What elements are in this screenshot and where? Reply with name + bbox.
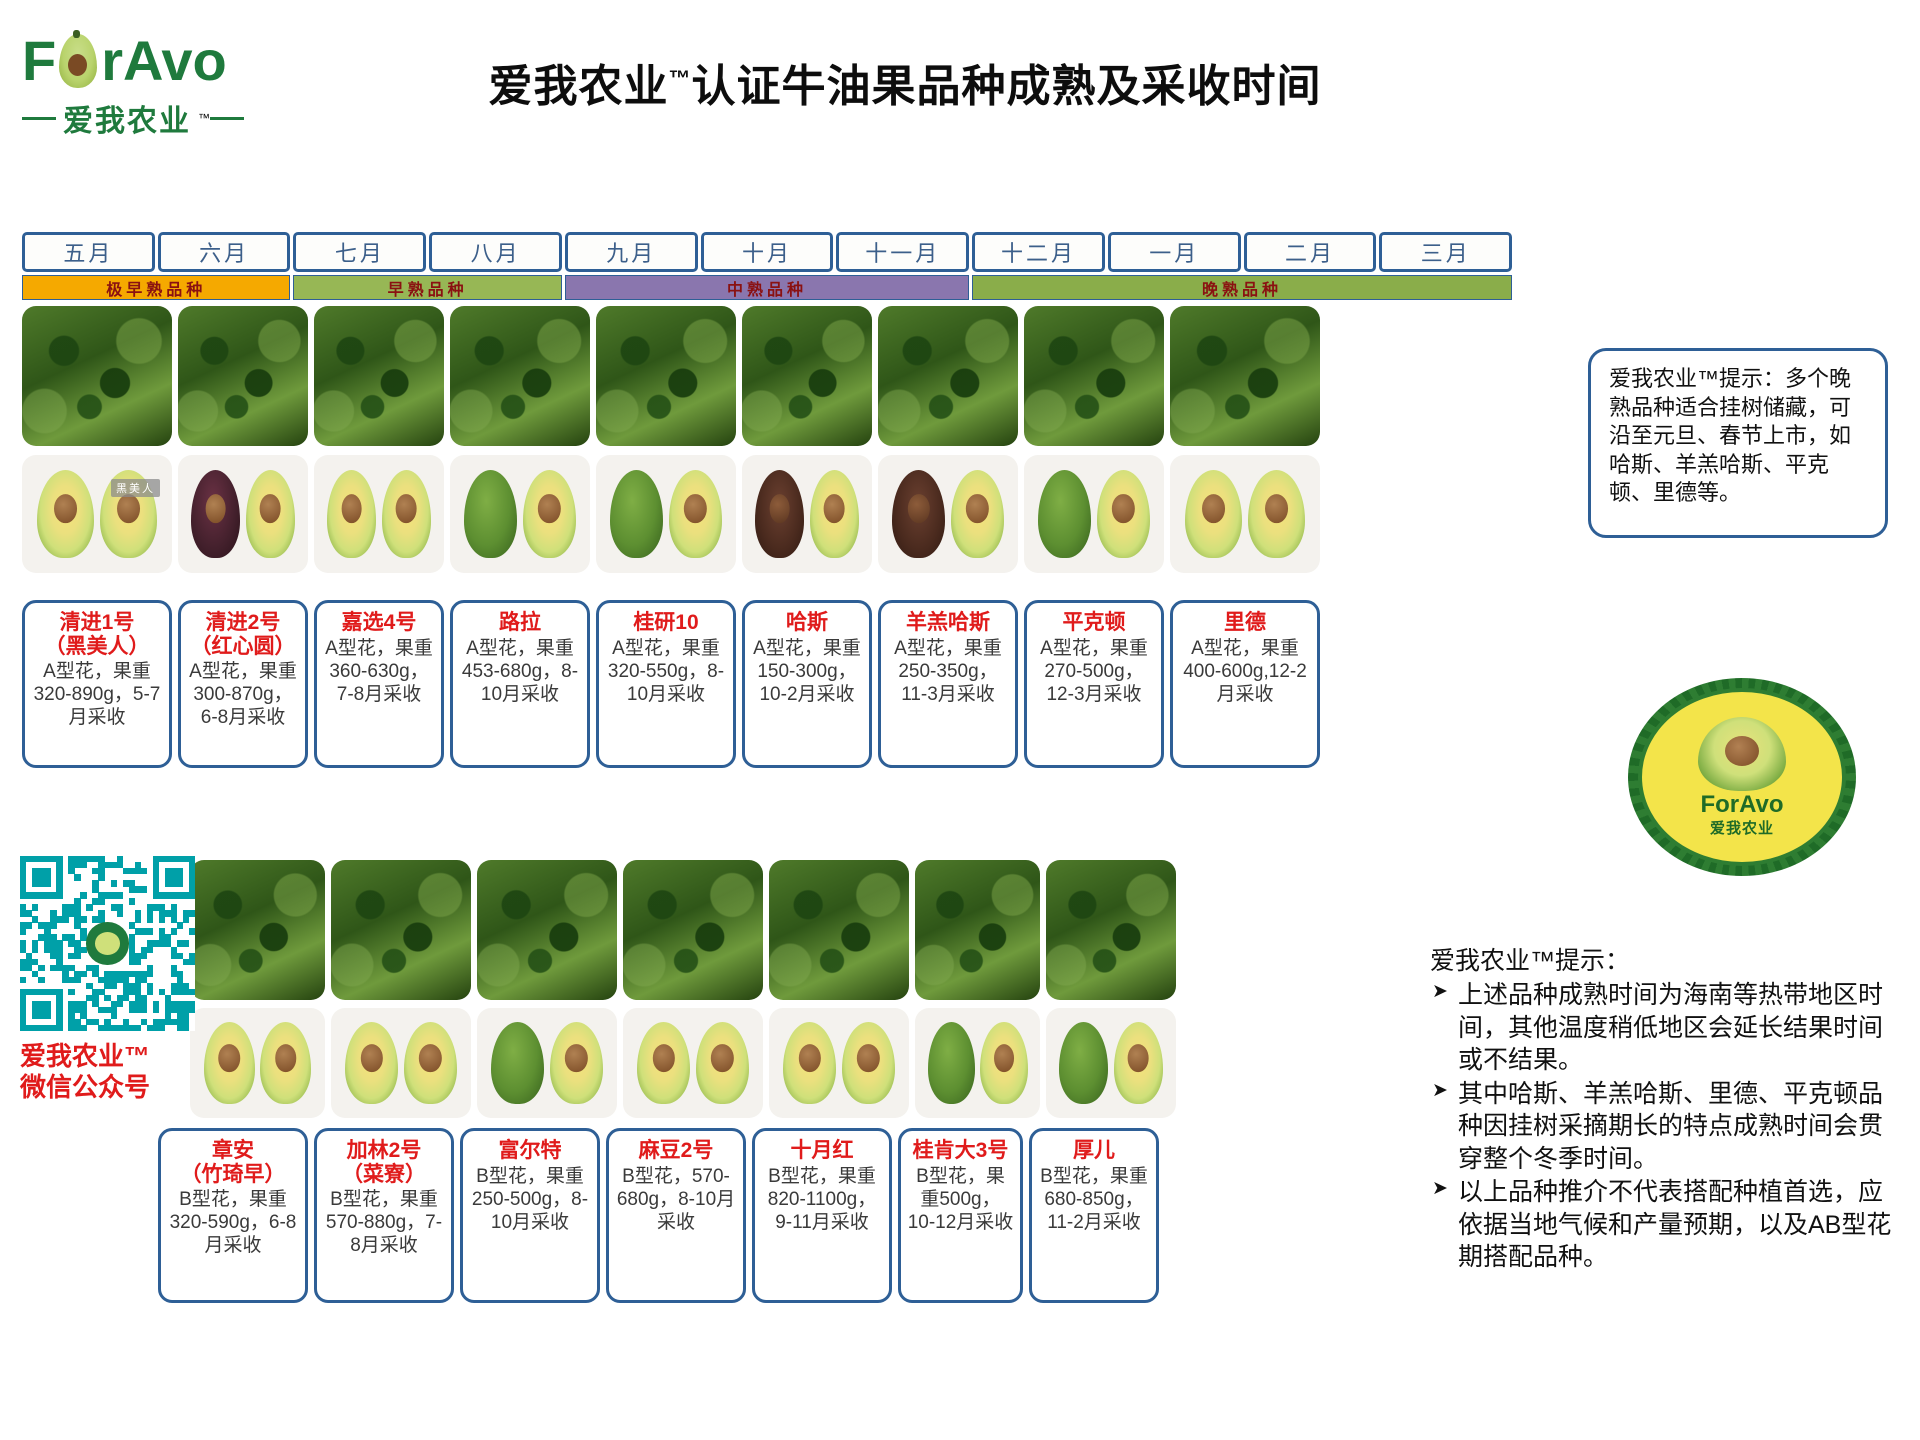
avocado-fruit-photo — [623, 1008, 763, 1118]
avocado-tree-photo — [915, 860, 1040, 1000]
row2-tree-photo-strip — [190, 860, 1176, 1000]
variety-name: 清进1号 — [31, 611, 163, 635]
month-cell-2: 六月 — [158, 232, 291, 272]
variety-name: 富尔特 — [469, 1139, 591, 1163]
foravo-logo: F rAvo 爱我农业 ™ — [22, 30, 292, 140]
avocado-icon — [1698, 717, 1786, 791]
variety-description: B型花，果重680-850g，11-2月采收 — [1038, 1165, 1150, 1235]
qr-code-icon[interactable] — [20, 856, 195, 1031]
avocado-fruit-photo — [190, 1008, 325, 1118]
timeline: 五月六月七月八月九月十月十一月十二月一月二月三月 极早熟品种早熟品种中熟品种晚熟… — [22, 232, 1512, 300]
variety-alias: （红心圆） — [187, 635, 299, 659]
tip-box-text: 爱我农业™提示：多个晚熟品种适合挂树储藏，可沿至元旦、春节上市，如哈斯、羊羔哈斯… — [1609, 365, 1871, 508]
variety-name: 麻豆2号 — [615, 1139, 737, 1163]
page-title-brand: 爱我农业 — [489, 62, 669, 111]
variety-card[interactable]: 麻豆2号B型花，570-680g，8-10月采收 — [606, 1128, 746, 1303]
variety-name: 嘉选4号 — [323, 611, 435, 635]
foravo-round-badge: ForAvo 爱我农业 — [1628, 678, 1856, 876]
avocado-tree-photo — [314, 306, 444, 446]
variety-description: B型花，果重570-880g，7-8月采收 — [323, 1188, 445, 1258]
note-item-1: 上述品种成熟时间为海南等热带地区时间，其他温度稍低地区会延长结果时间或不结果。 — [1430, 979, 1900, 1077]
variety-alias: （黑美人） — [31, 635, 163, 659]
avocado-tree-photo — [878, 306, 1018, 446]
bottom-notes: 爱我农业™提示： 上述品种成熟时间为海南等热带地区时间，其他温度稍低地区会延长结… — [1430, 945, 1900, 1275]
badge-inner: ForAvo 爱我农业 — [1638, 688, 1846, 866]
variety-card[interactable]: 嘉选4号A型花，果重360-630g，7-8月采收 — [314, 600, 444, 768]
month-cell-11: 三月 — [1379, 232, 1512, 272]
variety-card[interactable]: 清进2号（红心圆）A型花，果重300-870g，6-8月采收 — [178, 600, 308, 768]
variety-description: A型花，果重360-630g，7-8月采收 — [323, 637, 435, 707]
season-band-row: 极早熟品种早熟品种中熟品种晚熟品种 — [22, 275, 1512, 300]
variety-description: A型花，果重270-500g，12-3月采收 — [1033, 637, 1155, 707]
variety-card[interactable]: 路拉A型花，果重453-680g，8-10月采收 — [450, 600, 590, 768]
month-cell-5: 九月 — [565, 232, 698, 272]
variety-card[interactable]: 加林2号（菜寮）B型花，果重570-880g，7-8月采收 — [314, 1128, 454, 1303]
avocado-fruit-photo — [742, 455, 872, 573]
variety-name: 里德 — [1179, 611, 1311, 635]
notes-list: 上述品种成熟时间为海南等热带地区时间，其他温度稍低地区会延长结果时间或不结果。其… — [1430, 979, 1900, 1274]
variety-card[interactable]: 清进1号（黑美人）A型花，果重320-890g，5-7月采收 — [22, 600, 172, 768]
month-cell-8: 十二月 — [972, 232, 1105, 272]
variety-name: 厚儿 — [1038, 1139, 1150, 1163]
month-cell-10: 二月 — [1244, 232, 1377, 272]
note-item-3: 以上品种推介不代表搭配种植首选，应依据当地气候和产量预期，以及AB型花期搭配品种… — [1430, 1176, 1900, 1274]
trademark-icon: ™ — [669, 65, 692, 90]
logo-chinese-name: 爱我农业 — [63, 96, 191, 140]
avocado-tree-photo — [769, 860, 909, 1000]
avocado-tree-photo — [1046, 860, 1176, 1000]
variety-description: A型花，果重320-550g，8-10月采收 — [605, 637, 727, 707]
row2-fruit-photo-strip — [190, 1008, 1176, 1118]
avocado-icon — [56, 32, 100, 90]
avocado-fruit-photo — [314, 455, 444, 573]
month-cell-3: 七月 — [293, 232, 426, 272]
avocado-tree-photo — [178, 306, 308, 446]
month-cell-7: 十一月 — [836, 232, 969, 272]
variety-name: 羊羔哈斯 — [887, 611, 1009, 635]
variety-card[interactable]: 厚儿B型花，果重680-850g，11-2月采收 — [1029, 1128, 1159, 1303]
variety-name: 桂研10 — [605, 611, 727, 635]
month-cell-1: 五月 — [22, 232, 155, 272]
variety-description: A型花，果重150-300g，10-2月采收 — [751, 637, 863, 707]
avocado-fruit-photo — [1046, 1008, 1176, 1118]
avocado-fruit-photo — [915, 1008, 1040, 1118]
variety-description: B型花，570-680g，8-10月采收 — [615, 1165, 737, 1235]
variety-description: B型花，果重820-1100g，9-11月采收 — [761, 1165, 883, 1235]
season-band-4: 晚熟品种 — [972, 275, 1512, 300]
variety-description: B型花，果重250-500g，8-10月采收 — [469, 1165, 591, 1235]
avocado-tree-photo — [331, 860, 471, 1000]
trademark-icon: ™ — [198, 111, 210, 125]
tip-box-late-varieties: 爱我农业™提示：多个晚熟品种适合挂树储藏，可沿至元旦、春节上市，如哈斯、羊羔哈斯… — [1588, 348, 1888, 538]
notes-title: 爱我农业™提示： — [1430, 945, 1900, 977]
qr-label-line2: 微信公众号 — [20, 1072, 195, 1103]
variety-card[interactable]: 羊羔哈斯A型花，果重250-350g，11-3月采收 — [878, 600, 1018, 768]
variety-description: B型花，果重320-590g，6-8月采收 — [167, 1188, 299, 1258]
avocado-tree-photo — [596, 306, 736, 446]
variety-card[interactable]: 里德A型花，果重400-600g,12-2月采收 — [1170, 600, 1320, 768]
variety-description: B型花，果重500g，10-12月采收 — [907, 1165, 1014, 1235]
variety-card[interactable]: 桂肯大3号B型花，果重500g，10-12月采收 — [898, 1128, 1023, 1303]
month-cell-6: 十月 — [701, 232, 834, 272]
logo-subtitle: 爱我农业 ™ — [22, 96, 292, 140]
avocado-fruit-photo: 黑美人 — [22, 455, 172, 573]
row2-variety-cards: 章安（竹琦早）B型花，果重320-590g，6-8月采收加林2号（菜寮）B型花，… — [158, 1128, 1159, 1303]
badge-brand-name: ForAvo — [1700, 793, 1783, 817]
logo-dash-right — [210, 117, 244, 120]
badge-brand-cn: 爱我农业 — [1710, 817, 1774, 838]
avocado-tree-photo — [22, 306, 172, 446]
avocado-tree-photo — [623, 860, 763, 1000]
month-cell-4: 八月 — [429, 232, 562, 272]
avocado-fruit-photo — [769, 1008, 909, 1118]
avocado-fruit-photo — [331, 1008, 471, 1118]
variety-alias: （竹琦早） — [167, 1163, 299, 1187]
avocado-fruit-photo — [878, 455, 1018, 573]
avocado-fruit-photo — [596, 455, 736, 573]
season-band-1: 极早熟品种 — [22, 275, 290, 300]
variety-name: 清进2号 — [187, 611, 299, 635]
variety-card[interactable]: 哈斯A型花，果重150-300g，10-2月采收 — [742, 600, 872, 768]
variety-name: 路拉 — [459, 611, 581, 635]
qr-label-line1: 爱我农业™ — [20, 1041, 195, 1072]
photo-caption: 黑美人 — [111, 479, 160, 497]
variety-name: 桂肯大3号 — [907, 1139, 1014, 1163]
wechat-qr-block[interactable]: 爱我农业™ 微信公众号 — [20, 856, 195, 1102]
avocado-tree-photo — [450, 306, 590, 446]
avocado-tree-photo — [1024, 306, 1164, 446]
variety-description: A型花，果重300-870g，6-8月采收 — [187, 660, 299, 730]
avocado-fruit-photo — [477, 1008, 617, 1118]
avocado-tree-photo — [190, 860, 325, 1000]
qr-label: 爱我农业™ 微信公众号 — [20, 1041, 195, 1102]
variety-name: 平克顿 — [1033, 611, 1155, 635]
variety-description: A型花，果重453-680g，8-10月采收 — [459, 637, 581, 707]
variety-card[interactable]: 章安（竹琦早）B型花，果重320-590g，6-8月采收 — [158, 1128, 308, 1303]
variety-name: 加林2号 — [323, 1139, 445, 1163]
row1-fruit-photo-strip: 黑美人 — [22, 455, 1320, 573]
month-cell-9: 一月 — [1108, 232, 1241, 272]
logo-letter-f: F — [22, 33, 55, 89]
avocado-fruit-photo — [450, 455, 590, 573]
page-title-rest: 认证牛油果品种成熟及采收时间 — [692, 62, 1322, 111]
season-band-2: 早熟品种 — [293, 275, 561, 300]
row1-variety-cards: 清进1号（黑美人）A型花，果重320-890g，5-7月采收清进2号（红心圆）A… — [22, 600, 1320, 768]
page-title: 爱我农业™认证牛油果品种成熟及采收时间 — [330, 50, 1480, 114]
logo-dash-left — [22, 117, 56, 120]
variety-name: 哈斯 — [751, 611, 863, 635]
variety-alias: （菜寮） — [323, 1163, 445, 1187]
variety-card[interactable]: 平克顿A型花，果重270-500g，12-3月采收 — [1024, 600, 1164, 768]
row1-tree-photo-strip — [22, 306, 1320, 446]
logo-wordmark: F rAvo — [22, 30, 292, 92]
avocado-fruit-photo — [178, 455, 308, 573]
variety-card[interactable]: 富尔特B型花，果重250-500g，8-10月采收 — [460, 1128, 600, 1303]
variety-card[interactable]: 桂研10A型花，果重320-550g，8-10月采收 — [596, 600, 736, 768]
variety-description: A型花，果重400-600g,12-2月采收 — [1179, 637, 1311, 707]
variety-card[interactable]: 十月红B型花，果重820-1100g，9-11月采收 — [752, 1128, 892, 1303]
avocado-tree-photo — [1170, 306, 1320, 446]
avocado-fruit-photo — [1170, 455, 1320, 573]
avocado-tree-photo — [742, 306, 872, 446]
month-header-row: 五月六月七月八月九月十月十一月十二月一月二月三月 — [22, 232, 1512, 272]
logo-letters-ravo: rAvo — [101, 33, 227, 89]
note-item-2: 其中哈斯、羊羔哈斯、里德、平克顿品种因挂树采摘期长的特点成熟时间会贯穿整个冬季时… — [1430, 1078, 1900, 1176]
avocado-fruit-photo — [1024, 455, 1164, 573]
variety-description: A型花，果重250-350g，11-3月采收 — [887, 637, 1009, 707]
avocado-tree-photo — [477, 860, 617, 1000]
variety-name: 章安 — [167, 1139, 299, 1163]
variety-description: A型花，果重320-890g，5-7月采收 — [31, 660, 163, 730]
season-band-3: 中熟品种 — [565, 275, 969, 300]
variety-name: 十月红 — [761, 1139, 883, 1163]
